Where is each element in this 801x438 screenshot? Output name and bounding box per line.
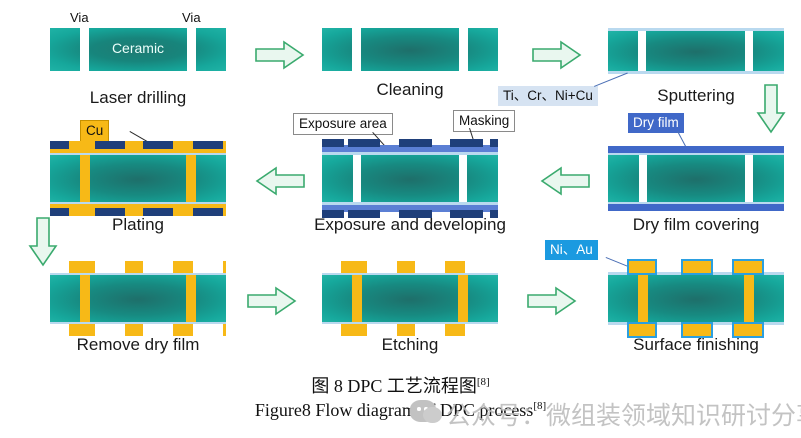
arrow-exposure-to-plating	[256, 168, 304, 194]
label-exposure-area: Exposure area	[293, 113, 393, 135]
etched-gap-top	[367, 261, 397, 273]
laser-drilling-board: Ceramic	[50, 28, 226, 71]
removed-film-gap-top	[193, 261, 223, 273]
removed-film-gap-top	[143, 261, 173, 273]
copper-pad-top	[683, 261, 711, 273]
etching-board	[322, 275, 498, 322]
seed-layer-bottom	[608, 71, 784, 74]
exposure-board	[322, 155, 498, 202]
masking-block-top	[490, 139, 498, 147]
copper-pad-top	[734, 261, 762, 273]
seed-layer-top	[608, 28, 784, 31]
via-hole-right	[745, 155, 753, 202]
ceramic-body	[608, 275, 784, 322]
wechat-icon	[410, 400, 436, 422]
copper-via-right	[186, 155, 196, 202]
arrow-plating-to-removedryfilm	[30, 218, 56, 266]
caption-cleaning: Cleaning	[322, 80, 498, 100]
etched-gap-top	[322, 261, 341, 273]
masking-block-top	[95, 141, 125, 149]
via-hole-left	[353, 155, 361, 202]
arrow-etching-to-surfacefinishing	[528, 288, 576, 314]
label-masking: Masking	[453, 110, 515, 132]
etched-gap-top	[465, 261, 498, 273]
caption-dry-film-covering: Dry film covering	[600, 215, 792, 235]
removed-film-gap-top	[50, 261, 69, 273]
ceramic-body	[608, 31, 784, 71]
masking-block-top	[348, 139, 380, 147]
seed-layer-top	[322, 152, 498, 155]
figure-caption-cn-text: 图 8 DPC 工艺流程图	[311, 376, 477, 396]
via-hole-right	[745, 31, 753, 71]
via-hole-left	[638, 31, 646, 71]
via-hole-left	[639, 155, 647, 202]
copper-via-left	[80, 275, 90, 322]
masking-block-top	[399, 139, 432, 147]
dry-film-bottom	[608, 204, 784, 211]
copper-via-right	[458, 275, 468, 322]
dry-film-top	[608, 146, 784, 153]
copper-via-left	[80, 155, 90, 202]
copper-pad-top	[629, 261, 655, 273]
ceramic-body	[50, 275, 226, 322]
masking-block-top	[50, 141, 69, 149]
masking-block-top	[450, 139, 483, 147]
caption-etching: Etching	[322, 335, 498, 355]
caption-surface-finishing: Surface finishing	[598, 335, 794, 355]
copper-via-right	[744, 275, 754, 322]
remove-dry-film-board	[50, 275, 226, 322]
masking-block-top	[322, 139, 344, 147]
leader-ti-cr-ni-cu	[594, 73, 628, 87]
ceramic-body	[608, 155, 784, 202]
copper-via-right	[186, 275, 196, 322]
via-label-left: Via	[70, 10, 89, 25]
caption-remove-dry-film: Remove dry film	[40, 335, 236, 355]
arrow-cleaning-to-sputtering	[533, 42, 581, 68]
figure-caption-cn: 图 8 DPC 工艺流程图[8]	[0, 372, 801, 398]
ceramic-body	[322, 155, 498, 202]
etched-gap-top	[415, 261, 445, 273]
caption-exposure-developing: Exposure and developing	[300, 215, 520, 235]
via-hole-right	[459, 28, 468, 71]
caption-plating: Plating	[50, 215, 226, 235]
caption-laser-drilling: Laser drilling	[50, 88, 226, 108]
ceramic-label: Ceramic	[50, 40, 226, 56]
copper-via-left	[352, 275, 362, 322]
figure-caption-cn-ref: [8]	[477, 376, 490, 388]
label-ni-au: Ni、Au	[545, 240, 598, 260]
watermark-text: 公众号：微组装领域知识研讨分享	[446, 396, 801, 432]
plating-board	[50, 155, 226, 202]
arrow-dryfilm-to-exposure	[541, 168, 589, 194]
via-hole-right	[459, 155, 467, 202]
label-cu: Cu	[80, 120, 109, 142]
masking-block-top	[143, 141, 173, 149]
via-hole-left	[352, 28, 361, 71]
label-ti-cr-ni-cu: Ti、Cr、Ni+Cu	[498, 86, 598, 106]
arrow-sputtering-to-dryfilm	[758, 85, 784, 133]
arrow-laser-to-cleaning	[256, 42, 304, 68]
surface-finishing-board	[608, 275, 784, 322]
sputtering-board	[608, 31, 784, 71]
cleaning-board	[322, 28, 498, 71]
label-dry-film: Dry film	[628, 113, 684, 133]
via-label-right: Via	[182, 10, 201, 25]
dry-film-board	[608, 155, 784, 202]
arrow-removedryfilm-to-etching	[248, 288, 296, 314]
copper-via-left	[638, 275, 648, 322]
ceramic-body	[50, 155, 226, 202]
masking-block-top	[193, 141, 223, 149]
ceramic-body	[322, 28, 498, 71]
ceramic-body	[322, 275, 498, 322]
removed-film-gap-top	[95, 261, 125, 273]
